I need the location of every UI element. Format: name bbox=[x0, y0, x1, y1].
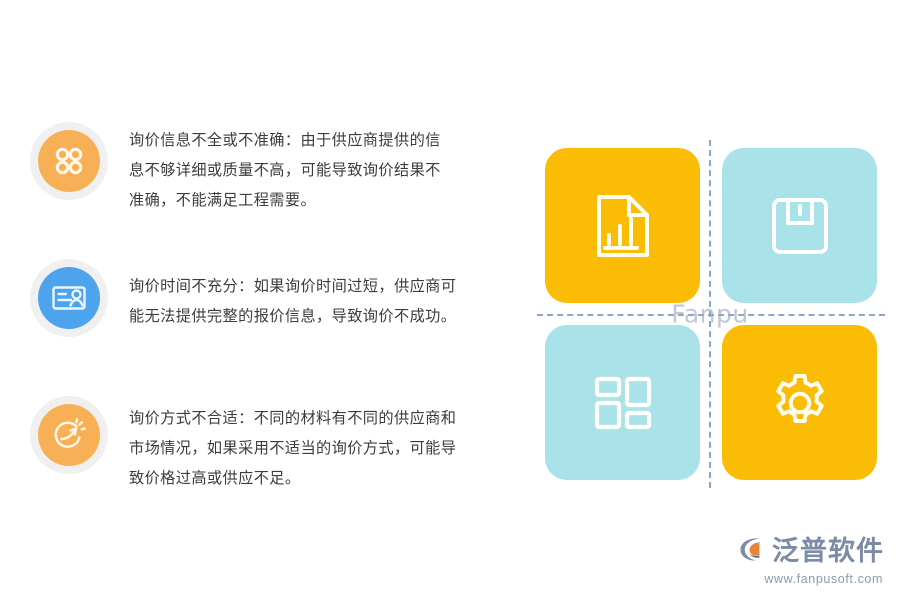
tile-save[interactable] bbox=[722, 148, 877, 303]
floppy-disk-save-icon bbox=[769, 195, 831, 257]
gear-settings-icon bbox=[767, 370, 833, 436]
bullet-badge-1 bbox=[30, 122, 108, 200]
brand-name: 泛普软件 bbox=[772, 538, 884, 565]
brand-logo: 泛普软件 www.fanpusoft.com bbox=[737, 534, 884, 586]
list-item-text: 询价方式不合适：不同的材料有不同的供应商和 市场情况，如果采用不适当的询价方式，… bbox=[129, 404, 500, 494]
bullet-list: 询价信息不全或不准确：由于供应商提供的信 息不够详细或质量不高，可能导致询价结果… bbox=[0, 104, 520, 515]
list-item: 询价方式不合适：不同的材料有不同的供应商和 市场情况，如果采用不适当的询价方式，… bbox=[0, 378, 520, 515]
list-item-text: 询价信息不全或不准确：由于供应商提供的信 息不够详细或质量不高，可能导致询价结果… bbox=[129, 126, 500, 216]
list-item: 询价信息不全或不准确：由于供应商提供的信 息不够详细或质量不高，可能导致询价结果… bbox=[0, 104, 520, 241]
bullet-badge-3 bbox=[30, 396, 108, 474]
fanpu-logo-mark-icon bbox=[737, 534, 767, 569]
tile-settings[interactable] bbox=[722, 325, 877, 480]
growth-arrow-icon bbox=[38, 404, 100, 466]
bullet-badge-2 bbox=[30, 259, 108, 337]
tile-panel: Fanpu bbox=[545, 148, 875, 480]
tile-dashboard[interactable] bbox=[545, 325, 700, 480]
dashboard-grid-icon bbox=[593, 375, 653, 431]
tile-grid bbox=[545, 148, 875, 480]
document-bar-chart-icon bbox=[594, 192, 652, 260]
tile-report[interactable] bbox=[545, 148, 700, 303]
four-dots-icon bbox=[38, 130, 100, 192]
brand-url: www.fanpusoft.com bbox=[764, 572, 883, 586]
list-item-text: 询价时间不充分：如果询价时间过短，供应商可 能无法提供完整的报价信息，导致询价不… bbox=[129, 272, 500, 332]
infographic-canvas: 询价信息不全或不准确：由于供应商提供的信 息不够详细或质量不高，可能导致询价结果… bbox=[0, 0, 900, 600]
id-card-person-icon bbox=[38, 267, 100, 329]
list-item: 询价时间不充分：如果询价时间过短，供应商可 能无法提供完整的报价信息，导致询价不… bbox=[0, 241, 520, 378]
brand-logo-row: 泛普软件 bbox=[737, 534, 884, 569]
